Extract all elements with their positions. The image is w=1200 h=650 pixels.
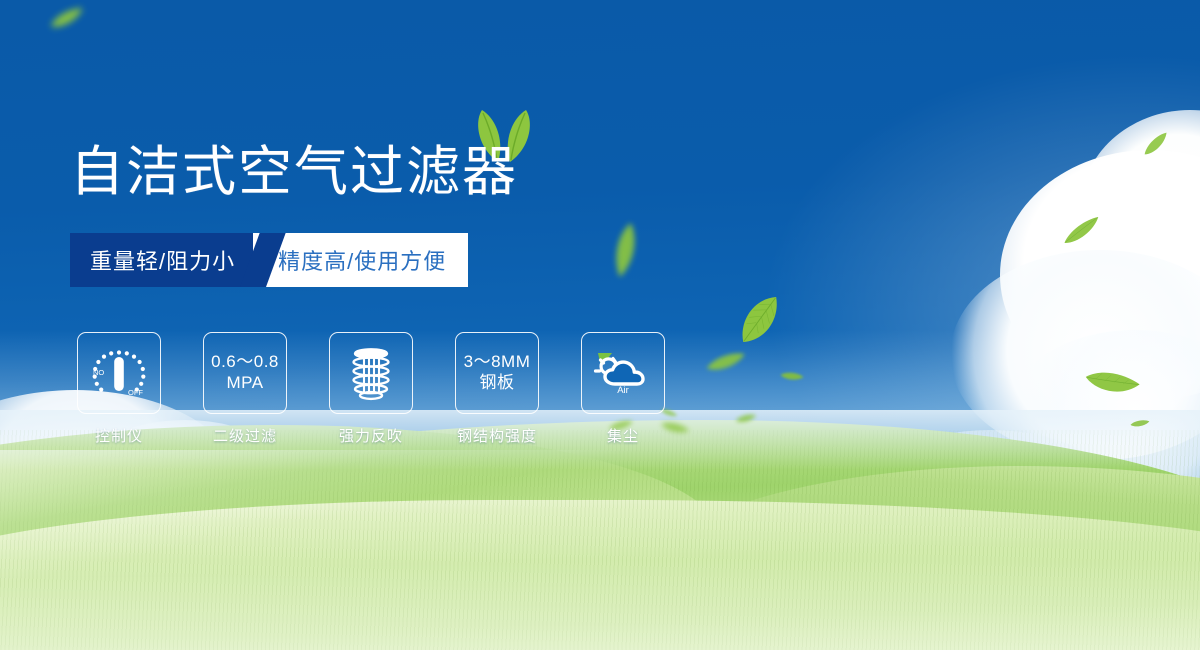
leaf-icon-4 — [702, 344, 749, 380]
cloud-mid-c — [600, 470, 830, 590]
feature-label-dust: 集尘 — [607, 425, 639, 446]
feature-item-dust[interactable]: Air 集尘 — [574, 332, 672, 446]
grass-sheen — [0, 450, 1200, 650]
dial-label-no: NO — [93, 368, 104, 377]
leaf-icon-2 — [606, 220, 643, 280]
page-title: 自洁式空气过滤器 — [70, 143, 518, 202]
feature-label-steel: 钢结构强度 — [457, 425, 537, 446]
feature-item-control[interactable]: NO OFF 控制仪 — [70, 332, 168, 446]
pressure-value-line2: MPA — [226, 373, 263, 394]
leaf-icon-3 — [722, 281, 796, 356]
control-dial-icon: NO OFF — [88, 344, 150, 402]
subtitle-left: 重量轻/阻力小 — [70, 233, 253, 287]
filter-cartridge-icon — [342, 344, 400, 402]
feature-label-pressure: 二级过滤 — [213, 425, 277, 446]
hill-right — [640, 466, 1200, 636]
feature-item-blowback[interactable]: 强力反吹 — [322, 332, 420, 446]
cloud-mid-right — [860, 430, 1120, 570]
hill-back — [0, 420, 1200, 650]
grass-field — [0, 410, 1200, 650]
cloud-right-lower — [950, 250, 1200, 460]
feature-box-blowback[interactable] — [329, 332, 413, 414]
cloud-left-c — [0, 450, 200, 580]
leaf-icon-1 — [44, 0, 89, 38]
subtitle-right: 精度高/使用方便 — [252, 233, 468, 287]
leaf-icon-5 — [779, 368, 805, 384]
steel-value-line2: 钢板 — [480, 373, 515, 394]
cloud-mid-b — [430, 455, 630, 575]
product-banner: 自洁式空气过滤器 重量轻/阻力小 精度高/使用方便 — [0, 0, 1200, 650]
steel-value-line1: 3～8MM — [464, 352, 531, 373]
hill-left — [0, 425, 720, 640]
grass-texture — [0, 430, 1200, 650]
cloud-right-mid — [1090, 210, 1200, 360]
pressure-value-line1: 0.6～0.8 — [211, 352, 279, 373]
feature-box-dust[interactable]: Air — [581, 332, 665, 414]
leaf-icon-10 — [1129, 417, 1150, 431]
cloud-right-base — [1010, 330, 1200, 490]
leaf-icon-8 — [1058, 210, 1107, 252]
leaf-icon-11 — [1138, 127, 1174, 161]
feature-label-control: 控制仪 — [95, 425, 143, 446]
air-caption: Air — [617, 385, 629, 395]
feature-item-steel[interactable]: 3～8MM 钢板 钢结构强度 — [448, 332, 546, 446]
cloud-mid-e — [200, 465, 380, 575]
cloud-mid-a — [300, 440, 580, 590]
hill-front — [0, 500, 1200, 650]
cloud-right-main — [1000, 150, 1200, 400]
leaf-icon-6 — [734, 410, 758, 427]
feature-item-pressure[interactable]: 0.6～0.8 MPA 二级过滤 — [196, 332, 294, 446]
leaf-icon-9 — [1080, 354, 1145, 411]
feature-list: NO OFF 控制仪 0.6～0.8 MPA 二级过滤 — [70, 332, 672, 446]
dial-label-off: OFF — [128, 388, 143, 397]
cloud-sun-air-icon: Air — [592, 351, 654, 395]
horizon-haze-band — [620, 500, 1200, 570]
cloud-mid-d — [760, 455, 950, 565]
feature-box-steel[interactable]: 3～8MM 钢板 — [455, 332, 539, 414]
feature-box-pressure[interactable]: 0.6～0.8 MPA — [203, 332, 287, 414]
subtitle-tag-bar: 重量轻/阻力小 精度高/使用方便 — [70, 233, 468, 287]
feature-label-blowback: 强力反吹 — [339, 425, 403, 446]
cloud-right-top — [1080, 110, 1200, 310]
feature-box-control[interactable]: NO OFF — [77, 332, 161, 414]
